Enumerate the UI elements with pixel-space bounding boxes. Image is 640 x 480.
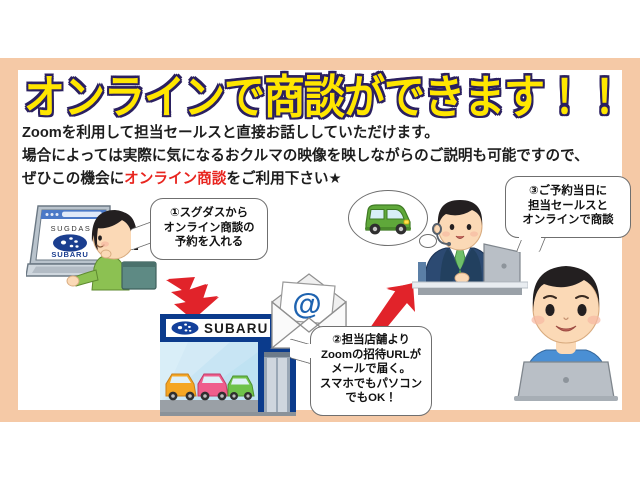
- bubble-step-2: ②担当店舗より Zoomの招待URLが メールで届く。 スマホでもパソコン でも…: [310, 326, 432, 416]
- page-title: オンラインで商談ができます！！: [24, 68, 614, 126]
- svg-text:SUGDAS: SUGDAS: [51, 224, 92, 233]
- bubble-3-tail-mask: [519, 230, 541, 240]
- at-symbol-icon: @: [292, 288, 321, 321]
- bubble-1-line-1: ①スグダスから: [157, 206, 261, 221]
- bubble-step-3: ③ご予約当日に 担当セールスと オンラインで商談: [505, 176, 631, 238]
- bubble-1-line-2: オンライン商談の: [157, 221, 261, 236]
- bubble-1-tail-mask: [151, 226, 165, 242]
- svg-text:SUBARU: SUBARU: [51, 250, 88, 259]
- illustration-customer-at-laptop: SUGDAS SUBARU: [26, 198, 158, 299]
- bubble-2-line-2: Zoomの招待URLが: [317, 348, 425, 363]
- illustration-green-car: [360, 198, 416, 243]
- bubble-2-line-4: スマホでもパソコン: [317, 377, 425, 392]
- body-line-3-highlight: オンライン商談: [124, 171, 226, 187]
- thought-bubble-tail: [419, 234, 437, 248]
- body-line-1: Zoomを利用して担当セールスと直接お話ししていただけます。: [22, 122, 622, 145]
- bubble-1-line-3: 予約を入れる: [157, 235, 261, 250]
- bubble-2-line-5: でもOK！: [317, 391, 425, 406]
- bubble-3-line-2: 担当セールスと: [512, 199, 624, 214]
- bubble-2-line-3: メールで届く。: [317, 362, 425, 377]
- subaru-logo-icon: [172, 321, 199, 334]
- bubble-2-tail-mask: [306, 344, 318, 358]
- bubble-3-line-1: ③ご予約当日に: [512, 184, 624, 199]
- bubble-3-line-3: オンラインで商談: [512, 213, 624, 228]
- body-line-2: 場合によっては実際に気になるおクルマの映像を映しながらのご説明も可能ですので、: [22, 145, 622, 168]
- bubble-step-1: ①スグダスから オンライン商談の 予約を入れる: [150, 198, 268, 260]
- dealership-sign-text: SUBARU: [204, 321, 268, 336]
- body-line-3-suffix: をご利用下さい★: [226, 171, 341, 187]
- bubble-2-line-1: ②担当店舗より: [317, 333, 425, 348]
- body-line-3-prefix: ぜひこの機会に: [22, 171, 124, 187]
- illustration-customer-video-call: [506, 252, 626, 407]
- poster-canvas: オンラインで商談ができます！！ Zoomを利用して担当セールスと直接お話ししてい…: [0, 0, 640, 480]
